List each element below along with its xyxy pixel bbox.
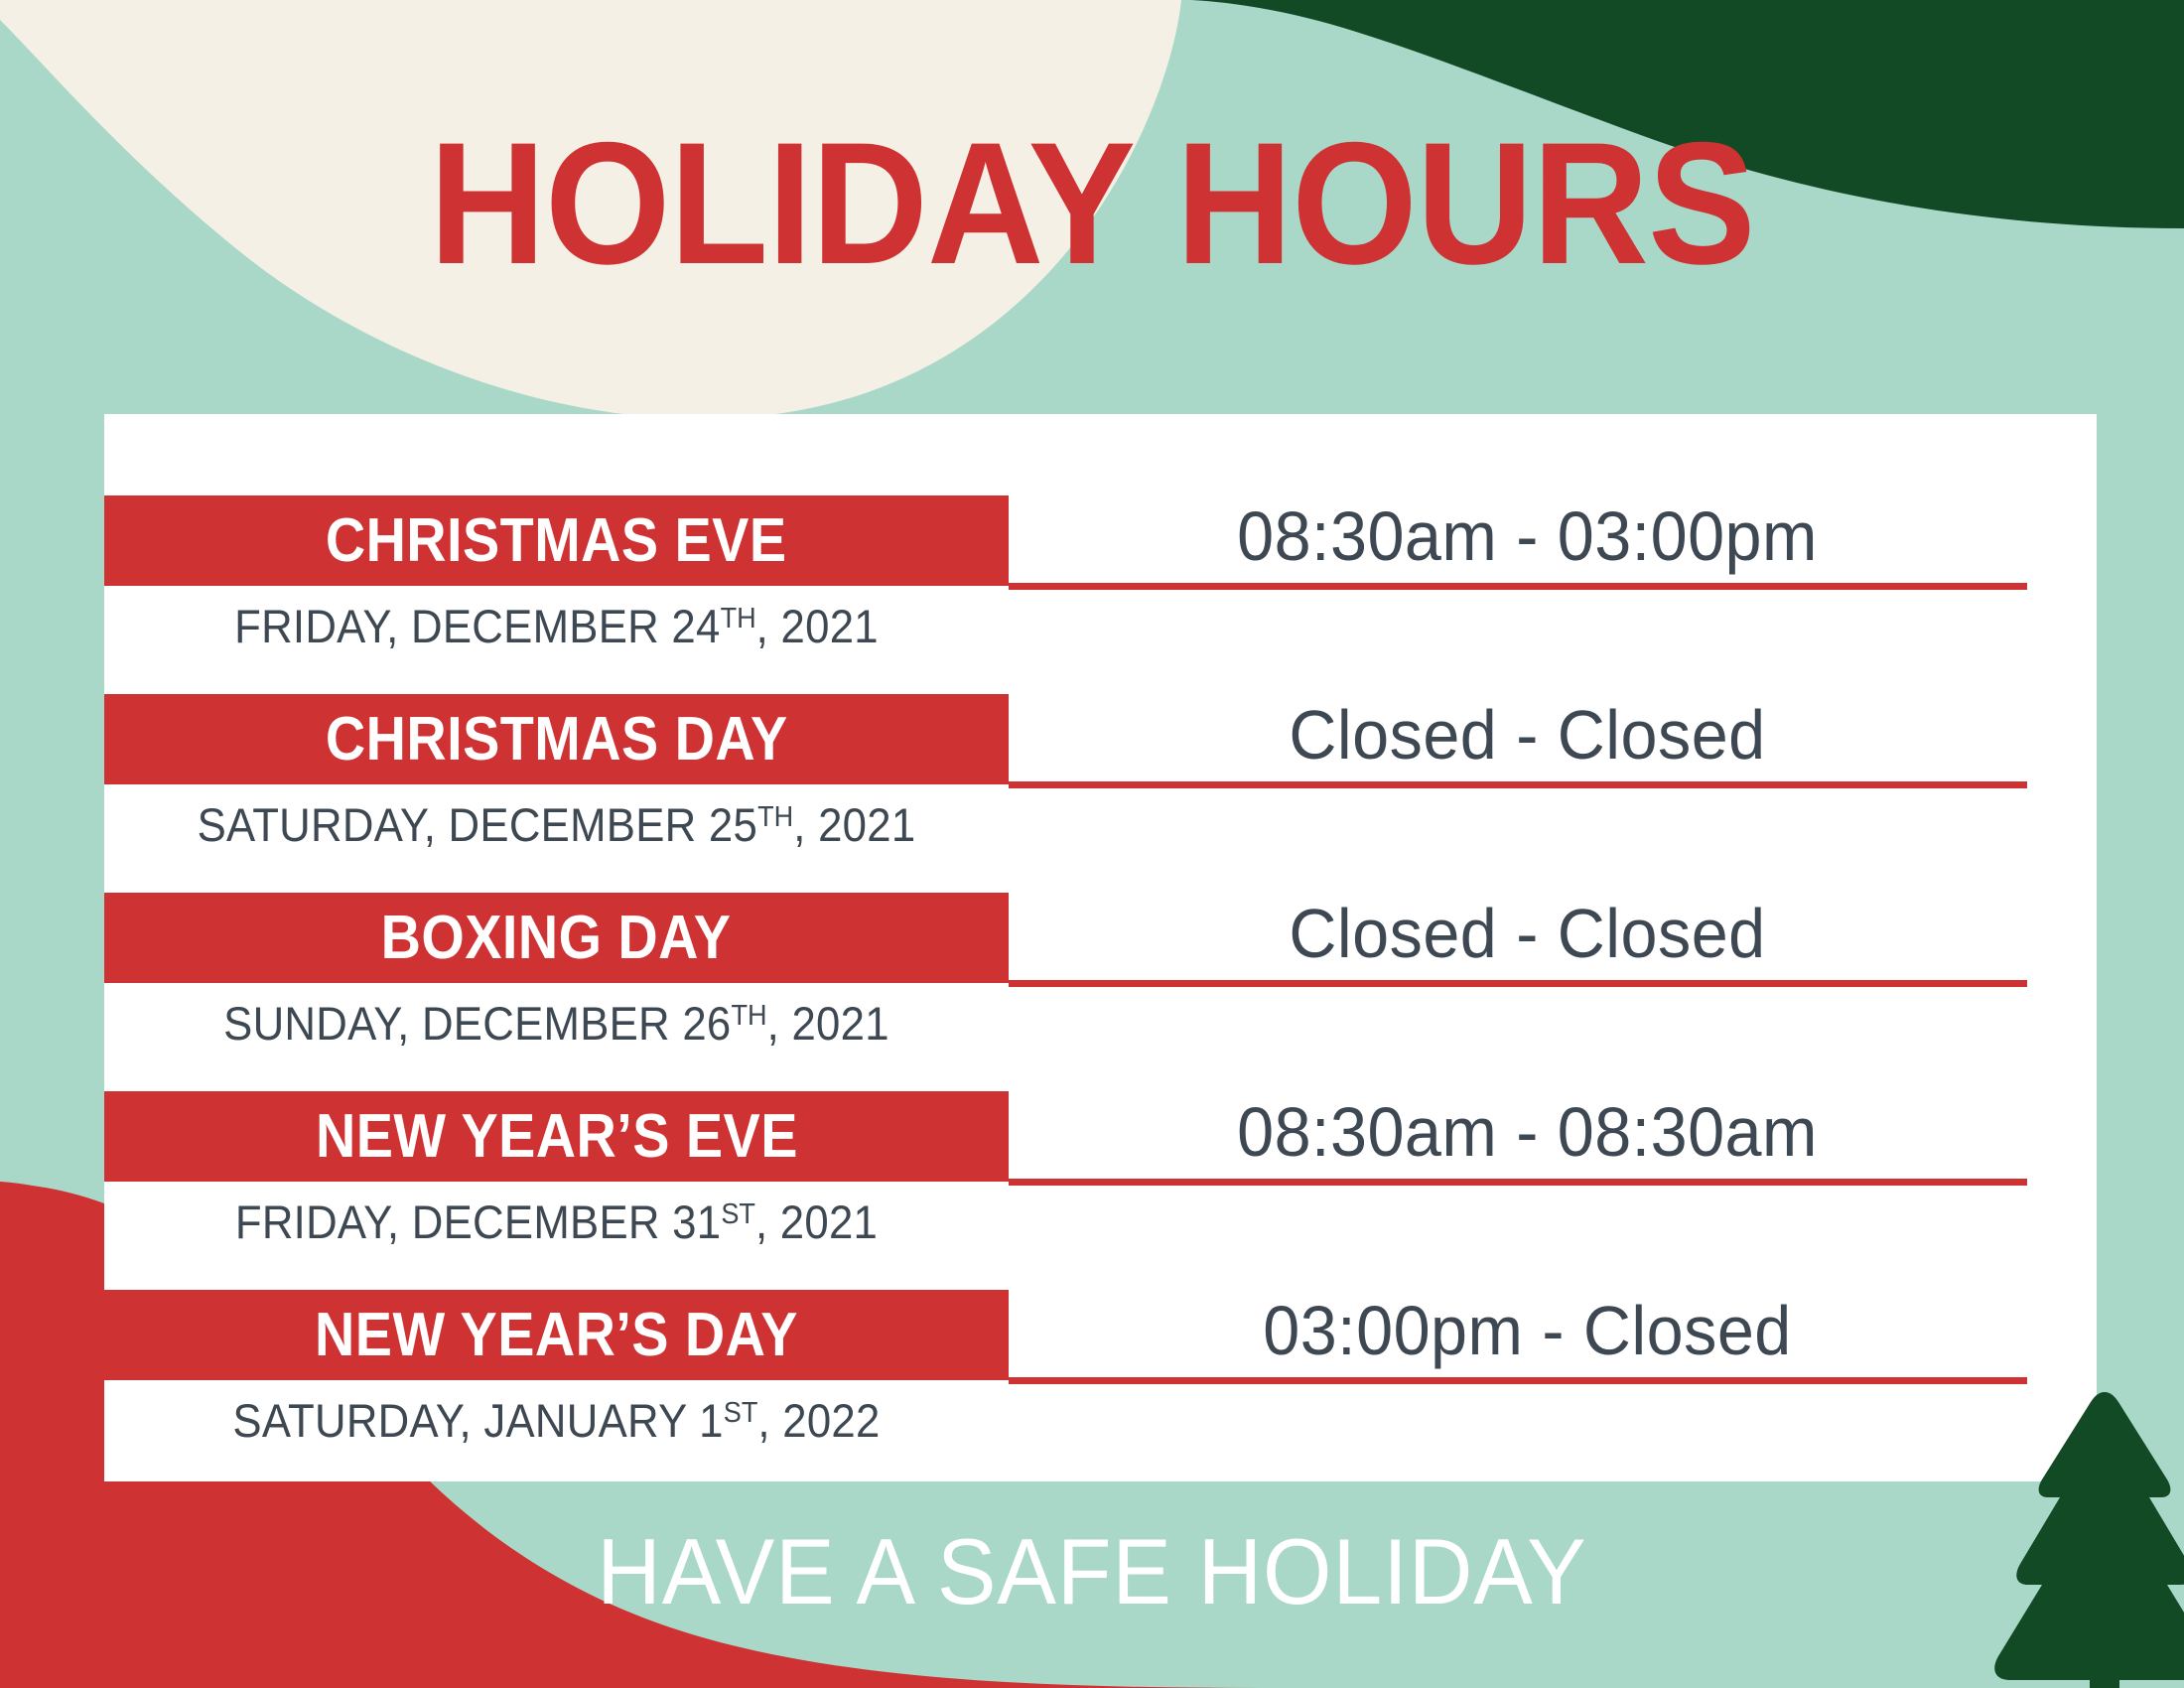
hours-cell: 08:30am - 08:30am	[1027, 1077, 2027, 1187]
date-prefix: SATURDAY, JANUARY 1	[232, 1394, 723, 1447]
occasion-label: NEW YEAR’S DAY	[315, 1305, 798, 1366]
date-prefix: FRIDAY, DECEMBER 31	[235, 1196, 721, 1248]
occasion-chip: NEW YEAR’S EVE	[104, 1091, 1009, 1182]
tagline: HAVE A SAFE HOLIDAY	[55, 1517, 2129, 1626]
occasion-label: BOXING DAY	[381, 908, 732, 969]
row-underline	[1009, 1377, 2027, 1384]
occasion-chip: BOXING DAY	[104, 893, 1009, 983]
date-ordinal: ST	[724, 1397, 758, 1429]
occasion-date: FRIDAY, DECEMBER 24TH, 2021	[136, 591, 977, 654]
schedule-row: NEW YEAR’S DAY SATURDAY, JANUARY 1ST, 20…	[104, 1290, 2097, 1488]
hours-value: Closed - Closed	[1052, 680, 2002, 789]
occasion-label: CHRISTMAS EVE	[326, 510, 787, 572]
schedule-panel: CHRISTMAS EVE FRIDAY, DECEMBER 24TH, 202…	[104, 414, 2097, 1481]
date-ordinal: TH	[721, 603, 756, 634]
date-suffix: , 2021	[756, 600, 879, 652]
occasion-date: SATURDAY, JANUARY 1ST, 2022	[136, 1385, 977, 1449]
schedule-row: CHRISTMAS EVE FRIDAY, DECEMBER 24TH, 202…	[104, 495, 2097, 694]
hours-value: 08:30am - 03:00pm	[1052, 482, 2002, 591]
page-title: HOLIDAY HOURS	[76, 117, 2108, 291]
occasion-date: SATURDAY, DECEMBER 25TH, 2021	[136, 789, 977, 853]
date-prefix: FRIDAY, DECEMBER 24	[234, 600, 720, 652]
occasion-date: SUNDAY, DECEMBER 26TH, 2021	[136, 988, 977, 1052]
row-underline	[1009, 583, 2027, 590]
occasion-label: CHRISTMAS DAY	[326, 709, 788, 771]
date-suffix: , 2021	[793, 798, 915, 851]
date-prefix: SATURDAY, DECEMBER 25	[198, 798, 758, 851]
hours-cell: 08:30am - 03:00pm	[1027, 482, 2027, 591]
schedule-row: NEW YEAR’S EVE FRIDAY, DECEMBER 31ST, 20…	[104, 1091, 2097, 1290]
schedule-row: CHRISTMAS DAY SATURDAY, DECEMBER 25TH, 2…	[104, 694, 2097, 893]
date-suffix: , 2021	[755, 1196, 878, 1248]
hours-cell: 03:00pm - Closed	[1027, 1276, 2027, 1385]
occasion-date: FRIDAY, DECEMBER 31ST, 2021	[136, 1187, 977, 1250]
hours-value: 03:00pm - Closed	[1052, 1276, 2002, 1385]
date-ordinal: TH	[732, 1000, 767, 1032]
date-prefix: SUNDAY, DECEMBER 26	[223, 997, 731, 1050]
date-suffix: , 2021	[767, 997, 889, 1050]
row-underline	[1009, 1179, 2027, 1186]
date-ordinal: ST	[721, 1198, 755, 1230]
occasion-chip: NEW YEAR’S DAY	[104, 1290, 1009, 1380]
row-underline	[1009, 781, 2027, 788]
occasion-chip: CHRISTMAS EVE	[104, 495, 1009, 586]
tree-body	[1994, 1392, 2184, 1688]
date-ordinal: TH	[757, 801, 793, 833]
row-underline	[1009, 980, 2027, 987]
christmas-tree-icon	[1980, 1380, 2184, 1688]
occasion-chip: CHRISTMAS DAY	[104, 694, 1009, 784]
holiday-hours-poster: HOLIDAY HOURS CHRISTMAS EVE FRIDAY, DECE…	[0, 0, 2184, 1688]
date-suffix: , 2022	[757, 1394, 880, 1447]
hours-value: Closed - Closed	[1052, 879, 2002, 988]
hours-cell: Closed - Closed	[1027, 680, 2027, 789]
occasion-label: NEW YEAR’S EVE	[316, 1106, 798, 1168]
hours-cell: Closed - Closed	[1027, 879, 2027, 988]
hours-value: 08:30am - 08:30am	[1052, 1077, 2002, 1187]
schedule-row: BOXING DAY SUNDAY, DECEMBER 26TH, 2021 C…	[104, 893, 2097, 1091]
